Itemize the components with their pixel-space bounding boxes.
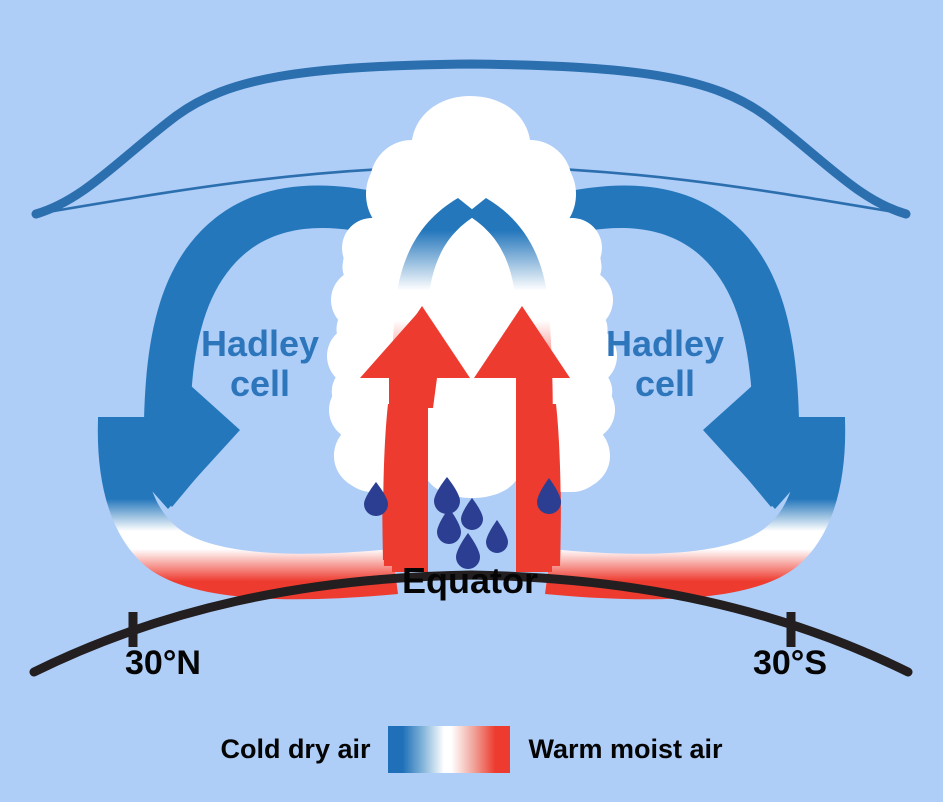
hadley-cell-label-right-line1: Hadley — [580, 324, 750, 364]
diagram-canvas: Hadley cell Hadley cell Equator 30°N 30°… — [0, 0, 943, 802]
warm-arrow-left-shaft-core — [392, 372, 428, 572]
hadley-cell-label-left: Hadley cell — [175, 324, 345, 405]
latitude-label-30n: 30°N — [78, 644, 248, 682]
cloud-right-lobe-1 — [542, 218, 602, 278]
cloud-left-lobe-2 — [331, 269, 393, 331]
cloud-right-lobe-2 — [551, 269, 613, 331]
latitude-label-30s: 30°S — [705, 644, 875, 682]
legend: Cold dry air Warm moist air — [0, 726, 943, 773]
cloud-left-lobe-1 — [342, 218, 402, 278]
hadley-cell-label-left-line2: cell — [175, 364, 345, 404]
legend-gradient-swatch — [388, 726, 510, 773]
legend-cold-label: Cold dry air — [220, 734, 370, 765]
hadley-cell-label-right-line2: cell — [580, 364, 750, 404]
hadley-cell-label-right: Hadley cell — [580, 324, 750, 405]
equator-label: Equator — [345, 561, 595, 601]
legend-warm-label: Warm moist air — [528, 734, 722, 765]
hadley-cell-label-left-line1: Hadley — [175, 324, 345, 364]
warm-arrow-right-shaft-core — [516, 372, 552, 572]
cloud-column-base-round — [424, 440, 520, 498]
